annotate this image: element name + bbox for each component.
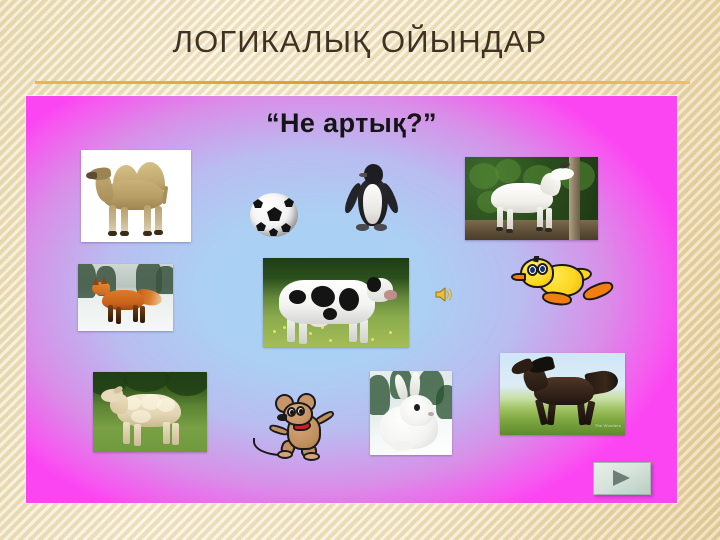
- cow-spot-shape: [323, 308, 337, 320]
- goat-picture[interactable]: [465, 157, 598, 240]
- fir-branch-shape: [436, 385, 452, 419]
- camel-snout-shape: [86, 172, 97, 179]
- soccer-ball-picture[interactable]: [250, 193, 298, 237]
- play-triangle-icon: [613, 470, 630, 486]
- ball-patch-shape: [256, 222, 266, 231]
- horse-picture[interactable]: The Wonders: [500, 353, 625, 435]
- goat-hoof-shape: [506, 229, 513, 233]
- flower-shape: [389, 331, 392, 334]
- tweety-foot-shape: [581, 279, 616, 304]
- penguin-foot-shape: [356, 224, 369, 231]
- camel-leg-shape: [121, 207, 128, 233]
- rabbit-eye-shape: [414, 404, 420, 411]
- cow-spot-shape: [289, 290, 306, 304]
- goat-hoof-shape: [545, 228, 552, 232]
- flower-shape: [273, 330, 276, 333]
- cow-muzzle-shape: [384, 290, 397, 300]
- rabbit-picture[interactable]: [370, 371, 452, 455]
- flower-shape: [283, 326, 286, 329]
- horse-photo-caption: The Wonders: [595, 423, 621, 428]
- ball-patch-shape: [269, 228, 278, 236]
- goat-leg-shape: [507, 209, 513, 231]
- soccer-ball-shape: [250, 193, 298, 237]
- goat-leg-shape: [537, 207, 543, 229]
- ball-patch-shape: [284, 198, 294, 207]
- flower-shape: [371, 338, 374, 341]
- tweety-pupil-shape: [540, 266, 545, 272]
- camel-scene: [81, 150, 191, 242]
- flower-shape: [309, 332, 312, 335]
- rabbit-nose-shape: [428, 412, 434, 416]
- camel-leg-shape: [109, 205, 116, 233]
- camel-hoof-shape: [143, 231, 152, 236]
- fox-leg-shape: [133, 305, 138, 322]
- camel-hoof-shape: [108, 231, 117, 236]
- tweety-bird-picture[interactable]: [508, 256, 620, 312]
- foliage-shape: [495, 159, 521, 183]
- fox-leg-shape: [116, 307, 121, 324]
- mouse-picture[interactable]: [253, 392, 348, 462]
- page-title: ЛОГИКАЛЫҚ ОЙЫНДАР: [0, 26, 720, 59]
- speaker-icon[interactable]: [435, 286, 453, 303]
- speaker-icon-glyph: [435, 286, 453, 303]
- camel-hoof-shape: [154, 230, 163, 235]
- penguin-beak-shape: [359, 173, 367, 177]
- penguin-picture[interactable]: [342, 162, 402, 242]
- goat-leg-shape: [497, 207, 503, 229]
- fox-leg-shape: [140, 306, 145, 323]
- sheep-leg-shape: [172, 423, 179, 445]
- mouse-pupil-shape: [299, 409, 303, 414]
- sheep-leg-shape: [134, 424, 141, 446]
- subtitle-question: “Не артық?”: [26, 108, 677, 139]
- title-block: ЛОГИКАЛЫҚ ОЙЫНДАР: [0, 26, 720, 59]
- goat-hoof-shape: [536, 227, 543, 231]
- ball-patch-shape: [267, 207, 282, 221]
- mouse-foot-shape: [277, 450, 293, 459]
- slide-canvas: ЛОГИКАЛЫҚ ОЙЫНДАР “Не артық?”: [0, 0, 720, 540]
- tweety-pupil-shape: [530, 267, 535, 273]
- tweety-beak-shape: [511, 273, 526, 281]
- flower-shape: [329, 339, 332, 342]
- camel-picture[interactable]: [81, 150, 191, 242]
- sheep-picture[interactable]: [93, 372, 207, 452]
- tweety-scene: [508, 256, 620, 312]
- penguin-foot-shape: [374, 224, 387, 231]
- sheep-leg-shape: [123, 422, 130, 444]
- mouse-nose-shape: [277, 414, 287, 421]
- fir-branch-shape: [370, 375, 390, 415]
- penguin-belly-shape: [363, 184, 382, 224]
- camel-leg-shape: [155, 206, 162, 233]
- title-divider-rule: [35, 81, 690, 84]
- camel-leg-shape: [144, 205, 151, 233]
- cow-spot-shape: [339, 288, 359, 311]
- fox-picture[interactable]: [78, 264, 173, 331]
- goat-hoof-shape: [496, 227, 503, 231]
- fox-leg-shape: [108, 305, 113, 322]
- next-slide-button[interactable]: [593, 462, 651, 495]
- goat-leg-shape: [546, 208, 552, 230]
- camel-hoof-shape: [120, 231, 129, 236]
- rabbit-paw-shape: [392, 441, 412, 451]
- cow-picture[interactable]: [263, 258, 409, 347]
- ball-patch-shape: [253, 199, 263, 208]
- conifer-shape: [156, 266, 173, 294]
- penguin-scene: [342, 162, 402, 242]
- sheep-wool-shape: [157, 398, 175, 412]
- ball-patch-shape: [281, 223, 291, 232]
- sheep-leg-shape: [163, 422, 170, 444]
- content-panel: “Не артық?”: [26, 96, 677, 503]
- cow-head-spot-shape: [367, 277, 381, 292]
- mouse-scene: [253, 392, 348, 462]
- horse-background-grass: [500, 407, 625, 435]
- mouse-foot-shape: [303, 452, 320, 461]
- cow-leg-shape: [360, 319, 368, 343]
- conifer-shape: [78, 264, 96, 298]
- mouse-pupil-shape: [290, 410, 294, 415]
- sheep-wool-shape: [131, 410, 151, 423]
